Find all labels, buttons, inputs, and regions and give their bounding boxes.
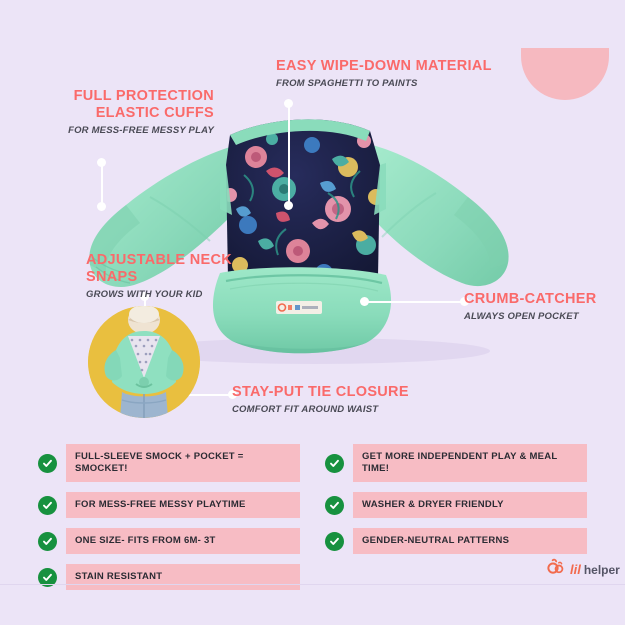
feature-label: WASHER & DRYER FRIENDLY (353, 492, 587, 518)
pointer-line-wipe-down (288, 103, 290, 206)
feature-label: FOR MESS-FREE MESSY PLAYTIME (66, 492, 300, 518)
callout-subtitle: FROM SPAGHETTI TO PAINTS (276, 77, 492, 91)
inset-photo-back-view (88, 306, 200, 418)
pointer-dot-wipe-down-end (284, 201, 293, 210)
feature-list-right: GET MORE INDEPENDENT PLAY & MEAL TIME! W… (325, 444, 587, 564)
check-icon (38, 496, 57, 515)
check-icon (325, 496, 344, 515)
feature-label: ONE SIZE- FITS FROM 6M- 3T (66, 528, 300, 554)
check-icon (38, 532, 57, 551)
callout-title: ADJUSTABLE NECK SNAPS (86, 252, 246, 286)
callout-crumb-catcher: CRUMB-CATCHER ALWAYS OPEN POCKET (464, 291, 597, 324)
callout-stay-put-tie-closure: STAY-PUT TIE CLOSURE COMFORT FIT AROUND … (232, 384, 409, 417)
callout-title: EASY WIPE-DOWN MATERIAL (276, 58, 492, 75)
pointer-dot-crumb-catcher-start (360, 297, 369, 306)
feature-label: GET MORE INDEPENDENT PLAY & MEAL TIME! (353, 444, 587, 482)
infographic-page: EASY WIPE-DOWN MATERIAL FROM SPAGHETTI T… (0, 0, 625, 625)
callout-subtitle: FOR MESS-FREE MESSY PLAY (40, 124, 214, 138)
callout-title: CRUMB-CATCHER (464, 291, 597, 308)
feature-item: FOR MESS-FREE MESSY PLAYTIME (38, 492, 300, 518)
check-icon (325, 532, 344, 551)
brand-logo: lil helper (546, 558, 620, 581)
feature-label: STAIN RESISTANT (66, 564, 300, 590)
pointer-line-crumb-catcher (364, 301, 466, 303)
feature-item: STAIN RESISTANT (38, 564, 300, 590)
feature-label: GENDER-NEUTRAL PATTERNS (353, 528, 587, 554)
logo-word-lil: lil (570, 562, 581, 577)
pointer-dot-wipe-down-top (284, 99, 293, 108)
decorative-semicircle (521, 48, 609, 100)
callout-adjustable-neck-snaps: ADJUSTABLE NECK SNAPS GROWS WITH YOUR KI… (86, 252, 246, 302)
logo-word-helper: helper (584, 563, 620, 577)
callout-full-protection-elastic-cuffs: FULL PROTECTION ELASTIC CUFFS FOR MESS-F… (40, 88, 214, 138)
bottom-divider (0, 584, 625, 585)
check-icon (325, 454, 344, 473)
feature-item: GENDER-NEUTRAL PATTERNS (325, 528, 587, 554)
lil-helper-mark-icon (546, 558, 566, 581)
feature-item: FULL-SLEEVE SMOCK + POCKET = SMOCKET! (38, 444, 300, 482)
feature-item: ONE SIZE- FITS FROM 6M- 3T (38, 528, 300, 554)
feature-list-left: FULL-SLEEVE SMOCK + POCKET = SMOCKET! FO… (38, 444, 300, 600)
feature-item: GET MORE INDEPENDENT PLAY & MEAL TIME! (325, 444, 587, 482)
pointer-dot-cuffs-top (97, 158, 106, 167)
feature-item: WASHER & DRYER FRIENDLY (325, 492, 587, 518)
pointer-dot-cuffs-end (97, 202, 106, 211)
callout-subtitle: ALWAYS OPEN POCKET (464, 310, 597, 324)
callout-subtitle: COMFORT FIT AROUND WAIST (232, 403, 409, 417)
feature-label: FULL-SLEEVE SMOCK + POCKET = SMOCKET! (66, 444, 300, 482)
callout-title: FULL PROTECTION ELASTIC CUFFS (40, 88, 214, 122)
callout-subtitle: GROWS WITH YOUR KID (86, 288, 246, 302)
callout-title: STAY-PUT TIE CLOSURE (232, 384, 409, 401)
check-icon (38, 454, 57, 473)
callout-easy-wipe-down-material: EASY WIPE-DOWN MATERIAL FROM SPAGHETTI T… (276, 58, 492, 91)
